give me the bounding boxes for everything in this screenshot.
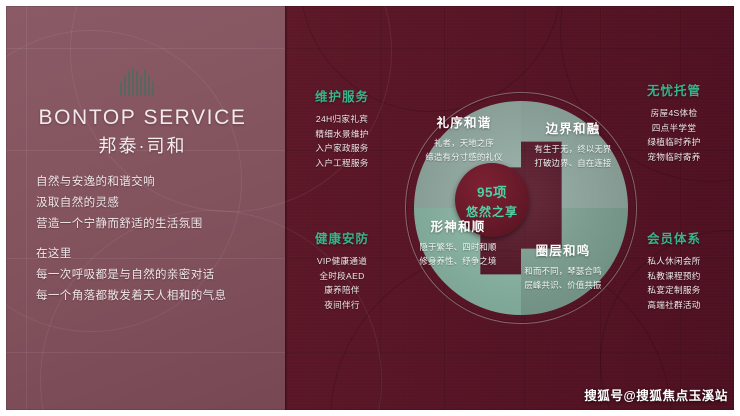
service-column-health-security: 健康安防 VIP健康通道 全时段AED 康养陪伴 夜间伴行 bbox=[296, 228, 388, 312]
quadrant-title: 形神和顺 bbox=[403, 216, 513, 235]
watermark: 搜狐号@搜狐焦点玉溪站 bbox=[584, 385, 728, 404]
hero-copy-line: 自然与安逸的和谐交响 bbox=[36, 172, 266, 193]
quadrant-label-ritual-harmony: 礼序和谐 礼者，天地之序 缔造有分寸感的礼仪 bbox=[409, 112, 519, 164]
service-item: 私人休闲会所 bbox=[628, 254, 720, 269]
quadrant-title: 边界和融 bbox=[518, 118, 628, 137]
service-item: 房屋4S体检 bbox=[628, 106, 720, 121]
service-column-membership: 会员体系 私人休闲会所 私教课程预约 私宴定制服务 高端社群活动 bbox=[628, 228, 720, 312]
hub-count: 95项 bbox=[477, 181, 507, 201]
brand-title-en: BONTOP SERVICE bbox=[0, 106, 285, 130]
quadrant-line: 缔造有分寸感的礼仪 bbox=[409, 150, 519, 164]
service-item: 绿植临时养护 bbox=[628, 135, 720, 150]
quadrant-line: 和而不同，琴瑟合鸣 bbox=[508, 264, 618, 278]
service-title: 无忧托管 bbox=[628, 80, 720, 99]
quadrant-line: 层峰共识、价值共振 bbox=[508, 278, 618, 292]
quadrant-title: 礼序和谐 bbox=[409, 112, 519, 131]
service-item: 全时段AED bbox=[296, 269, 388, 284]
panel-divider bbox=[285, 0, 288, 416]
quadrant-line: 隐于繁华、四时和顺 bbox=[403, 240, 513, 254]
service-item: 夜间伴行 bbox=[296, 298, 388, 313]
quadrant-label-boundary-fusion: 边界和融 有生于无，终以无界 打破边界、自在连接 bbox=[518, 118, 628, 170]
hero-copy-line: 营造一个宁静而舒适的生活氛围 bbox=[36, 214, 266, 235]
service-item: 入户工程服务 bbox=[296, 156, 388, 171]
service-item: 精细水景维护 bbox=[296, 127, 388, 142]
quadrant-line: 修身养性、纾争之境 bbox=[403, 254, 513, 268]
quadrant-label-circle-resonance: 圈层和鸣 和而不同，琴瑟合鸣 层峰共识、价值共振 bbox=[508, 240, 618, 292]
hero-copy-line: 每一个角落都散发着天人相和的气息 bbox=[36, 286, 266, 307]
service-column-trusteeship: 无忧托管 房屋4S体检 四点半学堂 绿植临时养护 宠物临时寄养 bbox=[628, 80, 720, 164]
brand-title-cn: 邦泰·司和 bbox=[0, 132, 285, 158]
hero-copy-line: 在这里 bbox=[36, 244, 266, 265]
quadrant-title: 圈层和鸣 bbox=[508, 240, 618, 259]
service-item: 私教课程预约 bbox=[628, 269, 720, 284]
service-item: 四点半学堂 bbox=[628, 121, 720, 136]
quadrant-line: 打破边界、自在连接 bbox=[518, 156, 628, 170]
service-item: 康养陪伴 bbox=[296, 283, 388, 298]
service-item: VIP健康通道 bbox=[296, 254, 388, 269]
vertical-bars-seal-icon bbox=[120, 66, 166, 96]
service-title: 健康安防 bbox=[296, 228, 388, 247]
hero-copy: 自然与安逸的和谐交响 汲取自然的灵感 营造一个宁静而舒适的生活氛围 在这里 每一… bbox=[36, 172, 266, 307]
hero-copy-line: 汲取自然的灵感 bbox=[36, 193, 266, 214]
quadrant-label-form-spirit-harmony: 形神和顺 隐于繁华、四时和顺 修身养性、纾争之境 bbox=[403, 216, 513, 268]
service-item: 宠物临时寄养 bbox=[628, 150, 720, 165]
service-item: 24H归家礼宾 bbox=[296, 112, 388, 127]
service-title: 会员体系 bbox=[628, 228, 720, 247]
service-title: 维护服务 bbox=[296, 86, 388, 105]
quadrant-line: 有生于无，终以无界 bbox=[518, 142, 628, 156]
slide-canvas: BONTOP SERVICE 邦泰·司和 自然与安逸的和谐交响 汲取自然的灵感 … bbox=[0, 0, 740, 416]
hero-copy-line: 每一次呼吸都是与自然的亲密对话 bbox=[36, 265, 266, 286]
quadrant-line: 礼者，天地之序 bbox=[409, 136, 519, 150]
service-item: 私宴定制服务 bbox=[628, 283, 720, 298]
service-column-maintenance: 维护服务 24H归家礼宾 精细水景维护 入户家政服务 入户工程服务 bbox=[296, 86, 388, 170]
service-item: 入户家政服务 bbox=[296, 141, 388, 156]
service-item: 高端社群活动 bbox=[628, 298, 720, 313]
